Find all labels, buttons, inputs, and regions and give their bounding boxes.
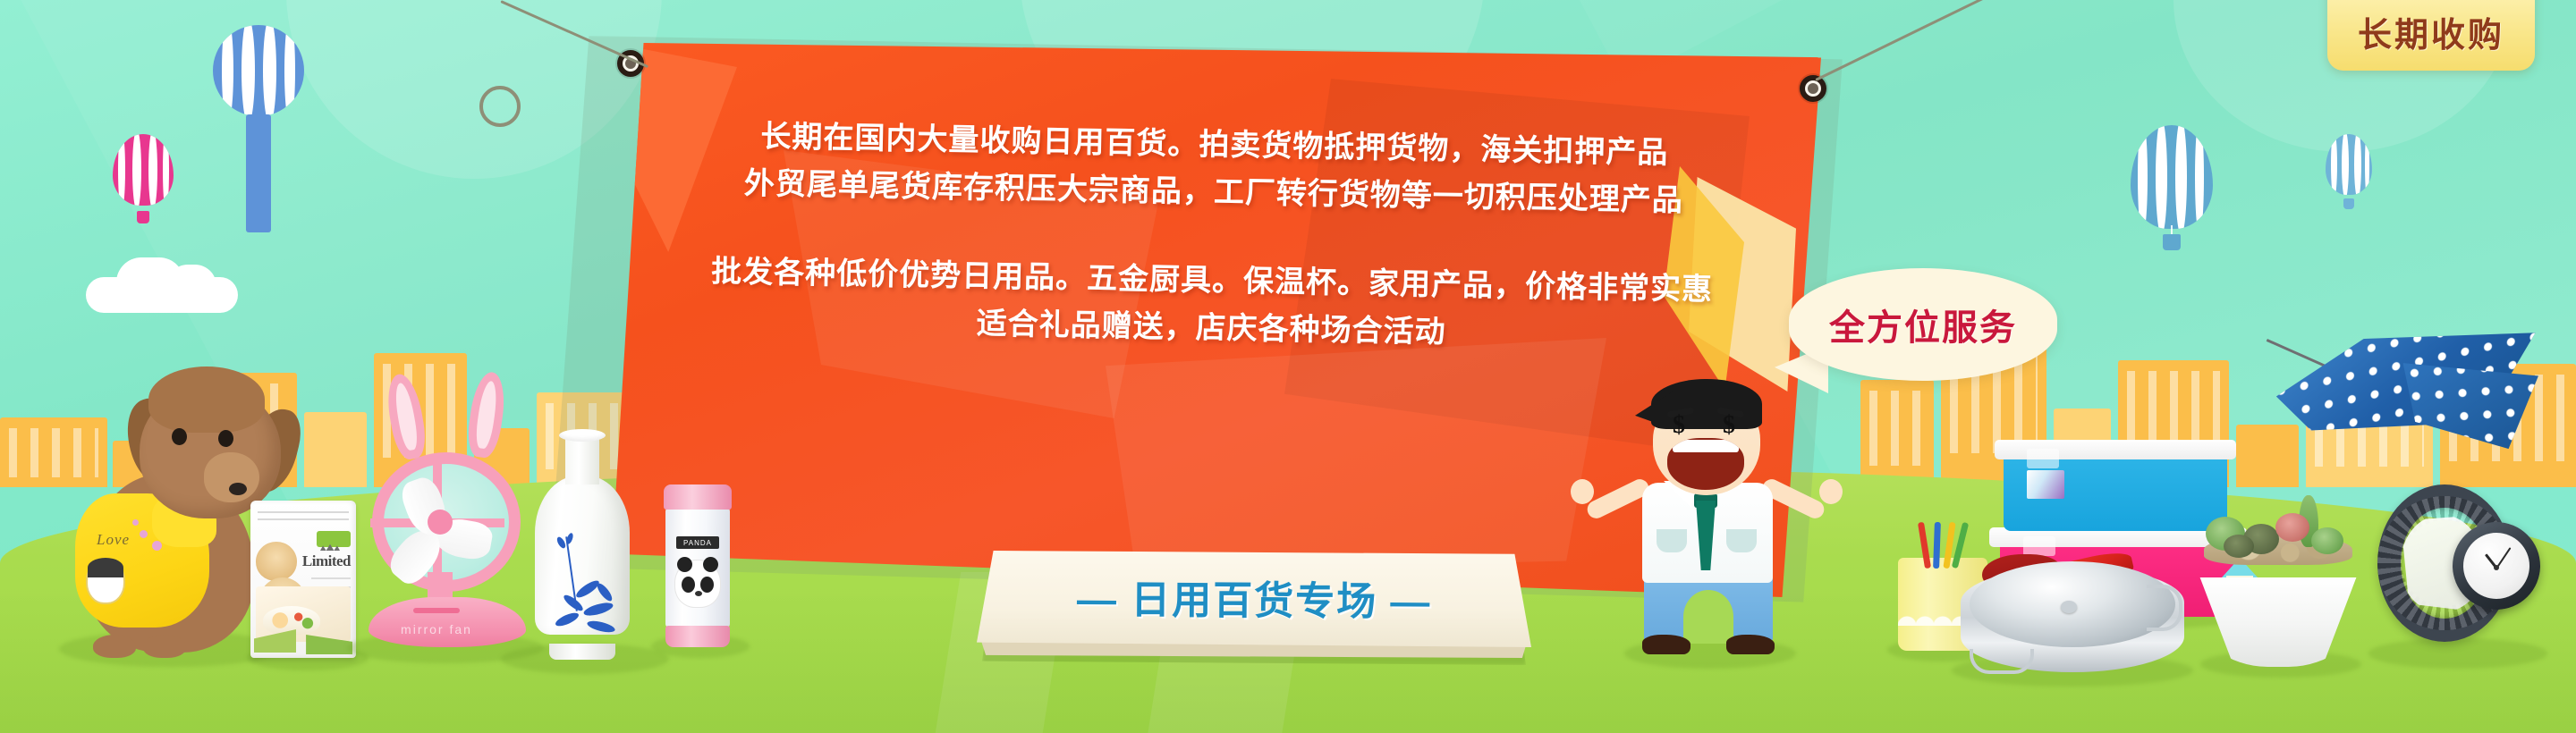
thermos-bottom-ring — [665, 626, 730, 647]
fan-hub — [428, 510, 453, 535]
mascot-leg-gap — [1683, 590, 1733, 644]
panda-nose — [695, 591, 702, 596]
balloon-gore — [163, 134, 169, 206]
bag-line — [258, 511, 349, 513]
tarp-fold — [1106, 338, 1606, 570]
mascot-shoe-left — [1642, 635, 1690, 654]
bag-green-tab — [317, 531, 351, 547]
balloon-gore — [2195, 125, 2204, 229]
plaque-label: — 日用百货专场 — — [1077, 568, 1432, 628]
watch-dial — [2463, 533, 2529, 599]
thermos-panda-face — [674, 560, 721, 608]
bag-line — [311, 577, 351, 579]
vase-motif-leaf — [554, 611, 580, 629]
bag-dog-photo-1 — [256, 542, 297, 581]
lantern-bulb — [213, 25, 304, 116]
product-dog-food-bag: Limited — [250, 501, 356, 658]
watch-case — [2453, 522, 2540, 610]
mascot-excited-businessman: $ $ — [1601, 379, 1816, 656]
mascot-hand-left — [1571, 479, 1594, 504]
bottom-plaque[interactable]: — 日用百货专场 — — [977, 551, 1531, 669]
thermos-brand-label: PANDA — [676, 536, 719, 549]
balloon-gore — [148, 134, 157, 206]
pan-handle-right — [2147, 585, 2182, 631]
plaque-face: — 日用百货专场 — — [977, 551, 1531, 647]
vase-blue-floral-motif — [547, 533, 619, 640]
speech-bubble-full-service[interactable]: 全方位服务 — [1789, 268, 2057, 381]
panda-ear-left — [677, 557, 692, 572]
tarp-text-block: 长期在国内大量收购日用百货。拍卖货物抵押货物，海关扣押产品 外贸尾单尾货库存积压… — [603, 111, 1823, 364]
dog-shirt-text: Love — [97, 531, 130, 549]
dog-shirt-dot — [140, 530, 148, 538]
mascot-open-mouth — [1667, 438, 1744, 490]
lantern-gore — [222, 25, 233, 116]
vase-neck — [565, 434, 599, 484]
balloon-basket — [2163, 234, 2181, 250]
dog-head-fur-top — [148, 366, 265, 433]
balloon-envelope — [113, 134, 174, 206]
vase-motif-leaf — [586, 619, 615, 634]
mascot-hand-right — [1819, 479, 1843, 504]
tarp-rope-loop-left — [479, 86, 521, 127]
dog-shirt-dot — [152, 541, 162, 551]
lantern-gore — [241, 25, 255, 116]
promo-banner: 长期在国内大量收购日用百货。拍卖货物抵押货物，海关扣押产品 外贸尾单尾货库存积压… — [0, 0, 2576, 733]
building — [1860, 380, 1934, 487]
vase-lip — [559, 429, 606, 442]
balloon-envelope — [2131, 125, 2213, 229]
mascot-shirt-pocket-right — [1726, 529, 1757, 552]
product-wristwatch — [2370, 476, 2540, 654]
product-stainless-steel-pan — [1961, 545, 2184, 678]
dog-paw-right — [143, 635, 186, 658]
balloon-gore — [2342, 134, 2349, 195]
storage-box-sticker — [2027, 470, 2064, 499]
fan-base-led — [413, 608, 460, 613]
balloon-gore — [2331, 134, 2337, 195]
watch-hand-pivot — [2494, 565, 2499, 570]
balloon-gore — [2175, 125, 2187, 229]
balloon-envelope — [2326, 134, 2372, 195]
mascot-shirt-pocket-left — [1657, 529, 1687, 552]
balloon-gore — [2156, 125, 2167, 229]
succulent-green-2 — [2311, 527, 2343, 554]
panda-ear-right — [703, 557, 718, 572]
fan-base-text: mirror fan — [358, 622, 515, 636]
status-badge-long-term-purchase[interactable]: 长期收购 — [2327, 0, 2535, 71]
bag-brand-label: Limited — [302, 552, 351, 570]
planter-pot — [2193, 577, 2363, 667]
thermos-cap — [664, 484, 732, 510]
mascot-shoe-right — [1726, 635, 1775, 654]
dollar-eye-left-icon: $ — [1673, 413, 1685, 438]
balloon-blue-right-2 — [2326, 134, 2372, 211]
bag-line — [258, 518, 349, 520]
storage-box-blue-latch — [2027, 449, 2059, 468]
dollar-eye-right-icon: $ — [1723, 413, 1735, 438]
tarp-grommet-right — [1800, 75, 1826, 102]
balloon-gore — [118, 134, 125, 206]
product-porcelain-vase — [530, 434, 635, 660]
bag-food-photo — [256, 586, 351, 642]
balloon-pink-left — [113, 134, 174, 223]
balloon-gore — [2138, 125, 2148, 229]
dog-paw-left — [93, 635, 136, 658]
balloon-gore — [2354, 134, 2361, 195]
product-panda-thermos: PANDA — [662, 484, 733, 647]
vase-foot — [549, 644, 615, 660]
dog-eye-right — [218, 430, 233, 447]
product-rabbit-mirror-fan: mirror fan — [358, 406, 537, 647]
dog-snout — [204, 452, 259, 502]
badge-label: 长期收购 — [2358, 17, 2504, 55]
lantern-gore — [284, 25, 295, 116]
vase-motif-leaf — [565, 533, 574, 545]
balloon-basket — [2343, 198, 2354, 209]
vase-motif-leaf — [582, 601, 614, 619]
dog-shirt-cartoon-hair — [88, 558, 123, 577]
vase-motif-leaf — [595, 581, 614, 602]
balloon-basket — [137, 211, 149, 223]
balloon-gore — [132, 134, 141, 206]
succulent-pink — [2275, 513, 2309, 542]
succulent-dark-2 — [2224, 535, 2254, 558]
pan-handle-left — [1970, 649, 2034, 674]
speech-bubble-label: 全方位服务 — [1829, 299, 2017, 350]
dog-nose — [229, 483, 247, 495]
dog-shirt-dot — [132, 519, 139, 526]
panda-eye-right — [700, 577, 714, 593]
product-succulent-planter — [2193, 533, 2363, 667]
panda-eye-left — [682, 577, 695, 593]
dog-eye-left — [172, 428, 187, 445]
balloon-gore — [2365, 134, 2369, 195]
product-polka-dot-umbrella — [2267, 322, 2545, 493]
lantern-gore — [263, 25, 276, 116]
mascot-teeth — [1673, 440, 1739, 452]
balloon-blue-right-1 — [2131, 125, 2213, 250]
lantern-tail — [246, 114, 271, 232]
pan-lid-knob — [2061, 601, 2077, 613]
